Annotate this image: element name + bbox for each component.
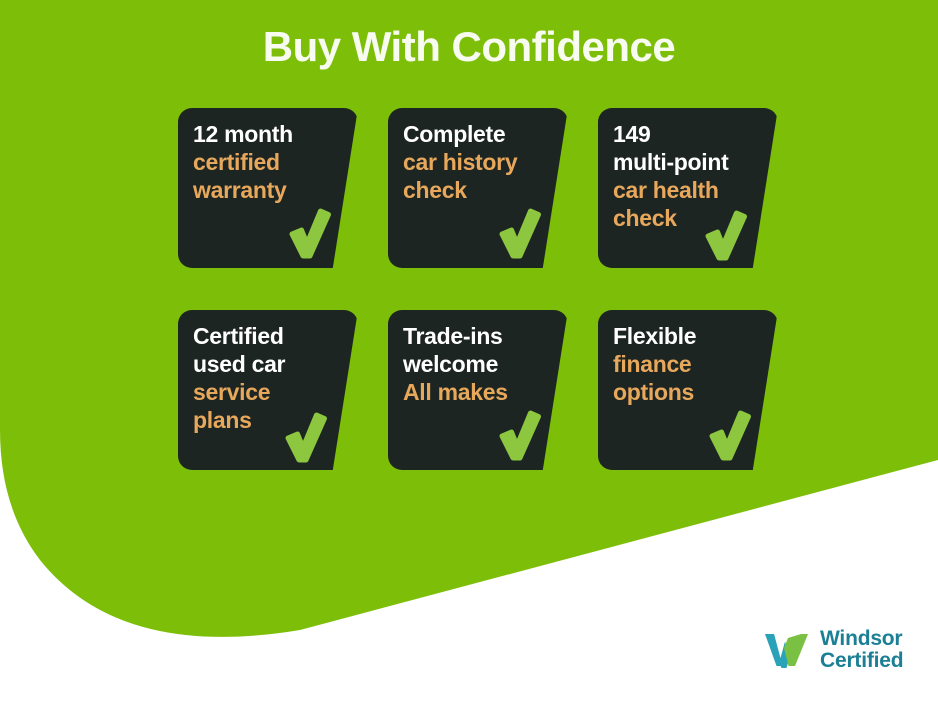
benefit-card-line: car health [613,176,760,204]
brand-logo: Windsor Certified [762,628,903,672]
poster-canvas: Buy With Confidence 12 monthcertifiedwar… [0,0,938,704]
benefit-card-service-plans[interactable]: Certifiedused carserviceplans [178,310,358,470]
check-icon [282,410,328,464]
benefit-card-line: multi-point [613,148,760,176]
benefit-card-car-history-check[interactable]: Completecar historycheck [388,108,568,268]
logo-word-line-1: Windsor [820,627,902,650]
check-icon [702,208,748,262]
benefit-card-text: Trade-inswelcomeAll makes [403,322,550,406]
benefit-card-line: All makes [403,378,550,406]
benefit-card-line: Certified [193,322,340,350]
benefit-card-text: 12 monthcertifiedwarranty [193,120,340,204]
benefit-card-text: Flexiblefinanceoptions [613,322,760,406]
check-icon [706,408,752,462]
benefit-card-line: Complete [403,120,550,148]
benefit-card-line: Flexible [613,322,760,350]
benefit-card-line: welcome [403,350,550,378]
logo-word-line-2: Certified [820,649,903,672]
benefit-card-line: service [193,378,340,406]
benefit-card-line: check [403,176,550,204]
benefit-card-grid: 12 monthcertifiedwarrantyCompletecar his… [178,108,778,512]
benefit-card-line: 12 month [193,120,340,148]
benefit-card-trade-ins[interactable]: Trade-inswelcomeAll makes [388,310,568,470]
check-icon [286,206,332,260]
benefit-card-line: Trade-ins [403,322,550,350]
check-icon [496,206,542,260]
benefit-card-text: Completecar historycheck [403,120,550,204]
benefit-card-certified-warranty[interactable]: 12 monthcertifiedwarranty [178,108,358,268]
benefit-card-line: options [613,378,760,406]
benefit-card-finance-options[interactable]: Flexiblefinanceoptions [598,310,778,470]
benefit-card-line: finance [613,350,760,378]
check-icon [496,408,542,462]
page-title: Buy With Confidence [0,21,938,73]
benefit-card-line: used car [193,350,340,378]
benefit-card-row-1: 12 monthcertifiedwarrantyCompletecar his… [178,108,778,268]
benefit-card-row-2: Certifiedused carserviceplansTrade-inswe… [178,310,778,470]
benefit-card-multi-point-check[interactable]: 149multi-pointcar healthcheck [598,108,778,268]
windsor-w-icon [762,628,810,672]
benefit-card-line: 149 [613,120,760,148]
logo-wordmark: Windsor Certified [820,628,903,672]
benefit-card-line: car history [403,148,550,176]
benefit-card-line: certified [193,148,340,176]
benefit-card-line: warranty [193,176,340,204]
